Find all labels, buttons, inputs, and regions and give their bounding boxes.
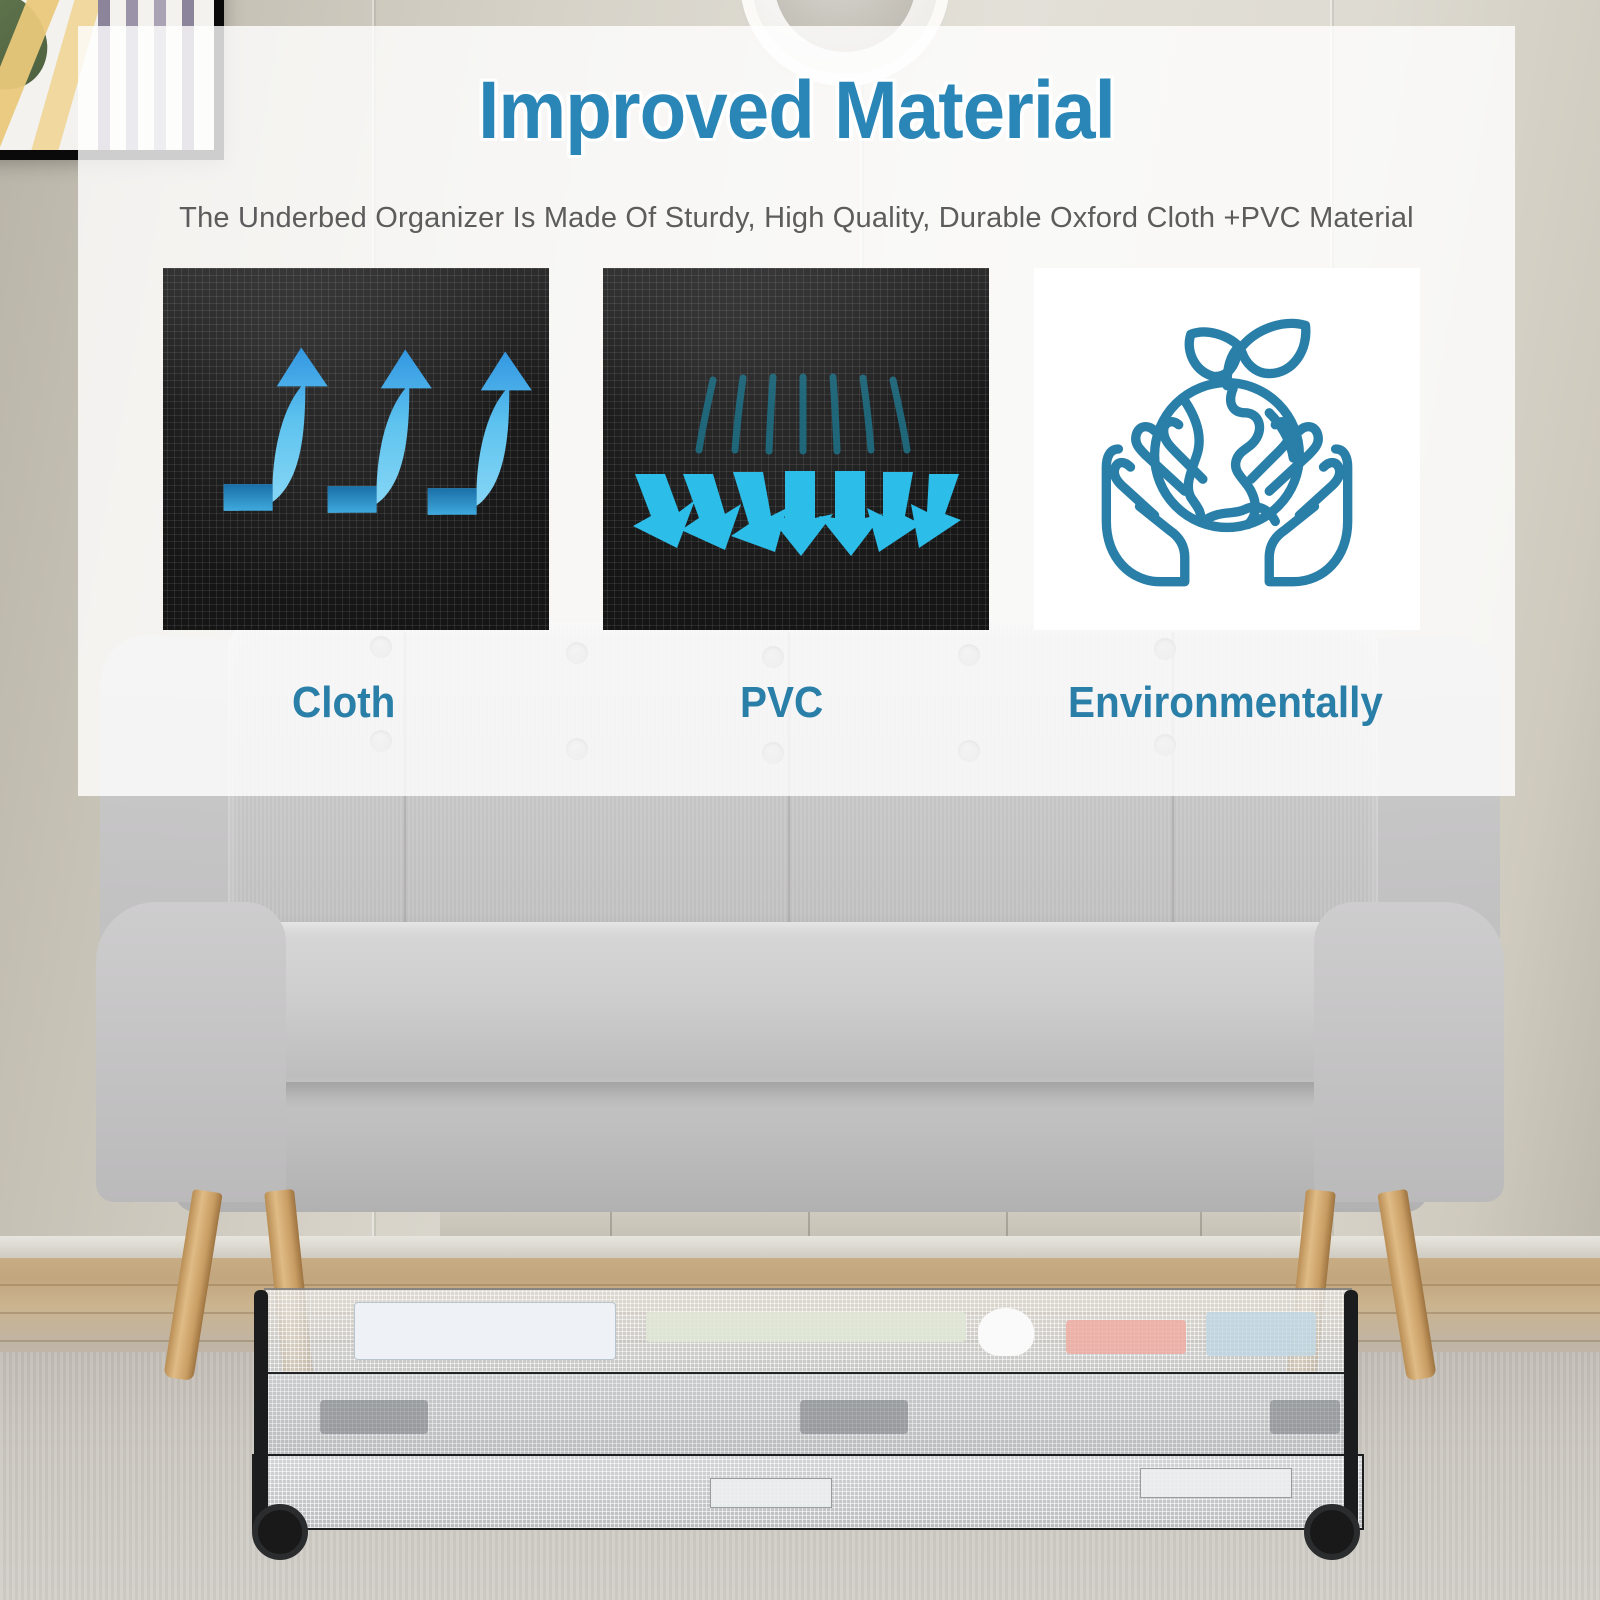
organizer-handle[interactable] — [710, 1478, 832, 1508]
label-environmentally: Environmentally — [1068, 678, 1383, 728]
sofa-arm-right — [1314, 902, 1504, 1202]
organizer-clear-top — [264, 1288, 1352, 1378]
organizer-mesh-panel-lower — [252, 1454, 1364, 1530]
sofa-arm-left — [96, 902, 286, 1202]
hands-holding-earth-sprout-icon — [1034, 268, 1420, 630]
stored-item-cloth — [1066, 1320, 1186, 1354]
product-feature-image: 6 — [0, 0, 1600, 1600]
organizer-mesh-panel-upper — [258, 1372, 1358, 1462]
panel-labels: Cloth PVC Environmentally — [78, 678, 1515, 748]
page-subtitle: The Underbed Organizer Is Made Of Sturdy… — [78, 202, 1515, 235]
label-pvc: PVC — [740, 678, 823, 728]
underbed-organizer — [246, 1288, 1366, 1542]
down-arrows — [633, 471, 961, 556]
organizer-tab — [800, 1400, 908, 1434]
caster-wheel — [252, 1504, 308, 1560]
feature-panels — [163, 268, 1430, 630]
stored-item-papers — [646, 1312, 966, 1342]
label-cloth: Cloth — [292, 678, 395, 728]
organizer-frame-rail — [1344, 1290, 1358, 1540]
page-title: Improved Material — [128, 64, 1464, 158]
stored-item-box — [1206, 1312, 1316, 1356]
water-streaks — [699, 377, 907, 451]
stored-item-toy — [978, 1308, 1034, 1356]
panel-pvc[interactable] — [603, 268, 989, 630]
water-repel-arrows-icon — [603, 268, 989, 630]
panel-environmentally[interactable] — [1034, 268, 1420, 630]
organizer-frame-rail — [254, 1290, 268, 1540]
up-arrows-icon — [163, 268, 549, 630]
organizer-tab — [1270, 1400, 1340, 1434]
sofa-cushion — [206, 922, 1396, 1082]
feature-overlay-card: Improved Material The Underbed Organizer… — [78, 26, 1515, 796]
organizer-tab — [320, 1400, 428, 1434]
caster-wheel — [1304, 1504, 1360, 1560]
organizer-handle[interactable] — [1140, 1468, 1292, 1498]
stored-item-book — [354, 1302, 616, 1360]
panel-cloth[interactable] — [163, 268, 549, 630]
